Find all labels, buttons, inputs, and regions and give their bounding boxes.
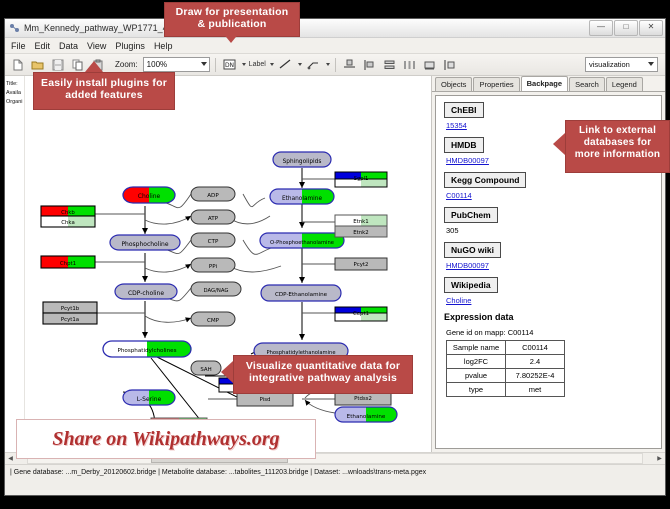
gene-label: Sgpl1 <box>354 176 369 182</box>
gene-pcyt1b[interactable]: Pcyt1b <box>43 302 97 313</box>
annotation-links-line1: Link to external <box>566 125 669 137</box>
node-label: Phosphatidylcholines <box>118 348 177 354</box>
db-header-chebi: ChEBI <box>444 102 484 118</box>
node-o-phosphoethanolamine[interactable]: O-Phosphoethanolamine <box>260 233 344 248</box>
window-controls: — □ ✕ <box>589 20 663 36</box>
node-phosphatidylcholines[interactable]: Phosphatidylcholines <box>103 341 191 357</box>
gene-label: Etnk1 <box>353 219 369 225</box>
table-row: log2FC 2.4 <box>447 355 565 369</box>
gene-label: Cept1 <box>353 311 369 317</box>
db-value-pubchem: 305 <box>446 226 653 235</box>
table-row: pvalue 7.80252E-4 <box>447 369 565 383</box>
copy-icon[interactable] <box>69 56 86 73</box>
gene-label: Pcyt1b <box>61 306 80 312</box>
db-link-wikipedia[interactable]: Choline <box>446 296 653 305</box>
gene-chkb[interactable]: Chkb <box>41 206 95 216</box>
annotation-share-text: Share on Wikipathways.org <box>52 428 279 451</box>
save-icon[interactable] <box>49 56 66 73</box>
gene-label: Pcyt1a <box>61 317 79 323</box>
chevron-down-icon <box>648 62 654 66</box>
expression-table: Sample name C00114 log2FC 2.4 pvalue 7.8… <box>446 340 565 397</box>
db-link-kegg-compound[interactable]: C00114 <box>446 191 653 200</box>
ungroup-icon[interactable] <box>441 56 458 73</box>
annotation-plugins-line1: Easily install plugins for <box>34 77 174 89</box>
label-button[interactable]: Label <box>249 61 266 68</box>
node-label: Ethanolamine <box>282 196 322 202</box>
node-cdp-ethanolamine[interactable]: CDP-Ethanolamine <box>261 285 341 301</box>
node-label: CDP-Ethanolamine <box>275 292 328 298</box>
annotation-links-line3: more information <box>566 149 669 161</box>
annotation-plugins-pointer-icon <box>85 61 103 72</box>
db-link-nugo-wiki[interactable]: HMDB00097 <box>446 261 653 270</box>
interaction-icon[interactable] <box>305 56 322 73</box>
table-row: Sample name C00114 <box>447 341 565 355</box>
open-folder-icon[interactable] <box>29 56 46 73</box>
node-l-serine-left[interactable]: L-Serine <box>123 390 175 405</box>
scroll-right-icon[interactable]: ▶ <box>654 454 665 464</box>
annotation-visualize-line1: Visualize quantitative data for <box>234 360 412 372</box>
expr-key: Sample name <box>447 341 506 355</box>
node-label: CTP <box>208 239 219 245</box>
node-label: Phosphocholine <box>121 241 168 248</box>
chevron-down-icon <box>201 62 207 66</box>
node-sah[interactable]: SAH <box>191 361 221 375</box>
zoom-label: Zoom: <box>115 60 138 69</box>
annotation-share-box: Share on Wikipathways.org <box>16 419 316 459</box>
status-text: | Gene database: ...m_Derby_20120602.bri… <box>10 469 426 476</box>
expr-val: 7.80252E-4 <box>506 369 565 383</box>
gene-pcyt2[interactable]: Pcyt2 <box>335 258 387 270</box>
annotation-visualize-line2: integrative pathway analysis <box>234 372 412 384</box>
node-label: Sphingolipids <box>283 159 322 165</box>
tab-backpage[interactable]: Backpage <box>521 76 568 91</box>
node-label: Choline <box>138 193 161 200</box>
gene-etnk2[interactable]: Etnk2 <box>335 226 387 237</box>
db-header-hmdb: HMDB <box>444 137 484 153</box>
label-dropdown-icon[interactable] <box>270 63 274 66</box>
expr-val: met <box>506 383 565 397</box>
tab-objects[interactable]: Objects <box>435 77 472 91</box>
zoom-combo[interactable]: 100% <box>143 57 210 72</box>
meta-availability-label: Availa <box>6 89 23 98</box>
db-header-nugo-wiki: NuGO wiki <box>444 242 501 258</box>
node-label: ATP <box>208 216 219 222</box>
gene-chpt1[interactable]: Chpt1 <box>41 256 95 268</box>
expression-data-title: Expression data <box>444 312 653 322</box>
menu-item-file[interactable]: File <box>11 41 26 51</box>
meta-title-label: Title: <box>6 80 23 89</box>
menu-item-edit[interactable]: Edit <box>35 41 51 51</box>
expr-key: pvalue <box>447 369 506 383</box>
minimize-button[interactable]: — <box>589 20 613 36</box>
scroll-left-icon[interactable]: ◀ <box>5 454 16 464</box>
gene-label: Chpt1 <box>60 261 76 267</box>
gene-pcyt1a[interactable]: Pcyt1a <box>43 313 97 324</box>
node-label: Ethanolamine <box>347 414 386 420</box>
line-dropdown-icon[interactable] <box>298 63 302 66</box>
node-cmp[interactable]: CMP <box>191 312 235 326</box>
node-label: DAG/NAG <box>203 288 228 294</box>
toolbar-separator <box>215 58 216 72</box>
expr-key: log2FC <box>447 355 506 369</box>
zoom-value: 100% <box>147 60 167 69</box>
pathvisio-icon <box>9 23 20 34</box>
menu-item-help[interactable]: Help <box>154 41 173 51</box>
db-header-kegg-compound: Kegg Compound <box>444 172 526 188</box>
status-bar: | Gene database: ...m_Derby_20120602.bri… <box>5 464 665 479</box>
annotation-visualize: Visualize quantitative data for integrat… <box>233 355 413 394</box>
align-top-icon[interactable] <box>341 56 358 73</box>
node-adp[interactable]: ADP <box>191 187 235 201</box>
gene-label: Pcyt2 <box>354 262 369 268</box>
node-choline-top[interactable]: Choline <box>123 187 175 203</box>
side-panel-tabs: Objects Properties Backpage Search Legen… <box>432 76 665 92</box>
annotation-links-line2: databases for <box>566 137 669 149</box>
tab-properties[interactable]: Properties <box>473 77 519 91</box>
node-label: SAH <box>200 367 211 373</box>
gene-pisd[interactable]: Pisd <box>237 392 293 406</box>
node-ppi[interactable]: PPi <box>191 258 235 272</box>
node-label: ADP <box>207 193 219 199</box>
annotation-links: Link to external databases for more info… <box>565 120 670 173</box>
meta-organism-label: Organi <box>6 98 23 107</box>
annotation-plugins-line2: added features <box>34 89 174 101</box>
table-row: type met <box>447 383 565 397</box>
stack-vertical-icon[interactable] <box>381 56 398 73</box>
title-bar: Mm_Kennedy_pathway_WP1771_45176.gpml — □… <box>5 19 665 38</box>
node-label: L-Serine <box>137 396 162 403</box>
gene-label: Etnk2 <box>353 230 369 236</box>
visualization-combo[interactable]: visualization <box>585 57 658 72</box>
menu-item-plugins[interactable]: Plugins <box>115 41 145 51</box>
node-label: CDP-choline <box>128 290 164 297</box>
interaction-dropdown-icon[interactable] <box>326 63 330 66</box>
expression-gene-id: Gene id on mapp: C00114 <box>446 328 653 337</box>
datanode-dropdown-icon[interactable] <box>242 63 246 66</box>
node-ethanolamine-right[interactable]: Ethanolamine <box>335 407 397 422</box>
close-button[interactable]: ✕ <box>639 20 663 36</box>
annotation-draw-pointer-icon <box>222 32 240 43</box>
toolbar-separator-2 <box>335 58 336 72</box>
tab-legend[interactable]: Legend <box>606 77 643 91</box>
node-dagnag[interactable]: DAG/NAG <box>191 282 241 296</box>
pathway-canvas[interactable]: Title: Availa Organi <box>5 76 432 452</box>
node-phosphocholine[interactable]: Phosphocholine <box>110 235 180 250</box>
visualization-value: visualization <box>589 60 630 69</box>
annotation-plugins: Easily install plugins for added feature… <box>33 72 175 110</box>
gene-label: Chkb <box>61 210 75 216</box>
annotation-draw-line1: Draw for presentation <box>165 6 299 18</box>
line-icon[interactable] <box>277 56 294 73</box>
expr-val: C00114 <box>506 341 565 355</box>
node-label: CMP <box>207 318 220 324</box>
menu-bar: File Edit Data View Plugins Help <box>5 38 665 54</box>
annotation-draw-line2: & publication <box>165 18 299 30</box>
menu-item-view[interactable]: View <box>87 41 106 51</box>
annotation-visualize-pointer-icon <box>221 361 233 383</box>
expr-key: type <box>447 383 506 397</box>
expr-val: 2.4 <box>506 355 565 369</box>
tab-search[interactable]: Search <box>569 77 605 91</box>
node-label: PPi <box>209 264 218 270</box>
pathway-diagram[interactable]: Choline Phosphocholine CDP-choline Phosp… <box>5 76 431 452</box>
gene-label: Pisd <box>260 397 271 403</box>
group-icon[interactable] <box>421 56 438 73</box>
datanode-icon[interactable]: DN <box>221 56 238 73</box>
node-ctp[interactable]: CTP <box>191 233 235 247</box>
gene-label: Ptdss2 <box>354 396 372 402</box>
maximize-button[interactable]: □ <box>614 20 638 36</box>
node-cdp-choline[interactable]: CDP-choline <box>115 284 177 299</box>
menu-item-data[interactable]: Data <box>59 41 78 51</box>
node-atp[interactable]: ATP <box>191 210 235 224</box>
annotation-links-pointer-icon <box>553 133 565 155</box>
gene-etnk1[interactable]: Etnk1 <box>335 215 387 226</box>
align-left-icon[interactable] <box>361 56 378 73</box>
distribute-icon[interactable] <box>401 56 418 73</box>
gene-cept1[interactable]: Cept1 <box>335 307 387 321</box>
node-label: O-Phosphoethanolamine <box>270 240 334 246</box>
gene-sgpl1[interactable]: Sgpl1 <box>335 172 387 187</box>
new-icon[interactable] <box>9 56 26 73</box>
db-header-pubchem: PubChem <box>444 207 498 223</box>
svg-text:DN: DN <box>225 62 234 69</box>
db-header-wikipedia: Wikipedia <box>444 277 498 293</box>
pathway-metadata-strip: Title: Availa Organi <box>5 76 25 452</box>
node-ethanolamine-top[interactable]: Ethanolamine <box>270 189 334 204</box>
gene-label: Chka <box>61 220 75 226</box>
gene-chka[interactable]: Chka <box>41 216 95 227</box>
node-sphingolipids[interactable]: Sphingolipids <box>273 152 331 167</box>
